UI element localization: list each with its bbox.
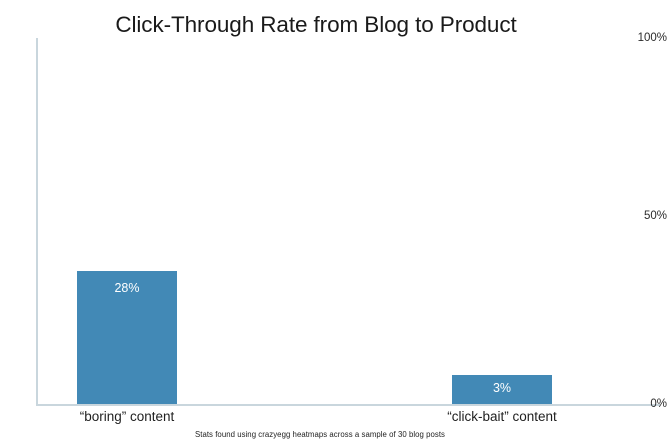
bar-boring-content[interactable]: 28% [77, 271, 177, 404]
chart-title: Click-Through Rate from Blog to Product [36, 12, 596, 38]
y-axis-line [36, 38, 38, 405]
bar-chart: Click-Through Rate from Blog to Product … [0, 0, 669, 446]
chart-footnote: Stats found using crazyegg heatmaps acro… [0, 430, 640, 439]
x-axis-line [36, 404, 660, 406]
bar-value-label-boring-content: 28% [77, 281, 177, 295]
y-axis-tick-label-50: 50% [635, 210, 669, 222]
x-axis-category-label-click-bait-content: “click-bait” content [422, 408, 582, 425]
y-axis-tick-label-100: 100% [635, 32, 669, 44]
plot-area: 28% 3% [0, 0, 669, 446]
x-axis-category-label-boring-content: “boring” content [47, 408, 207, 425]
y-axis-tick-label-0: 0% [635, 398, 669, 410]
bar-click-bait-content[interactable]: 3% [452, 375, 552, 404]
bar-value-label-click-bait-content: 3% [452, 381, 552, 395]
